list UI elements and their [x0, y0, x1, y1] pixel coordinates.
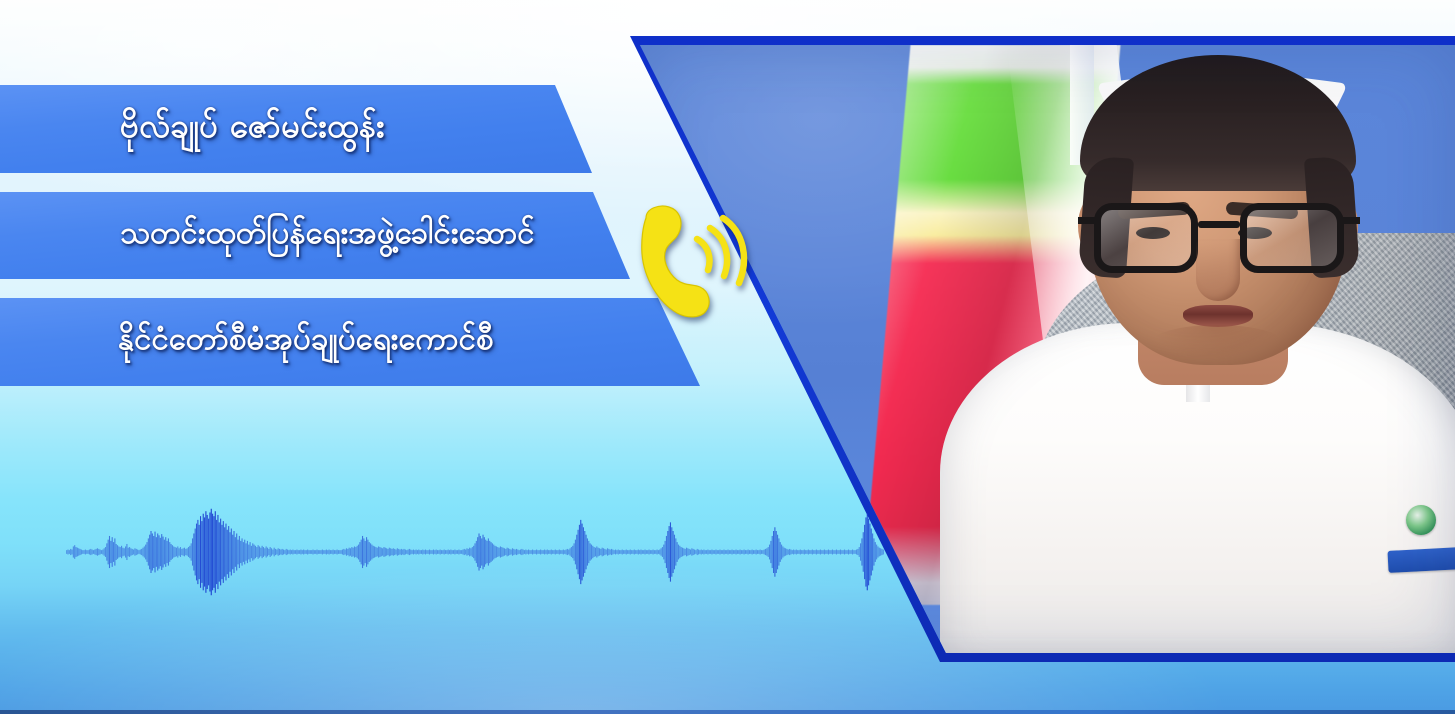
waveform-bar — [306, 550, 307, 554]
waveform-bar — [606, 550, 607, 555]
waveform-bar — [77, 548, 78, 557]
waveform-bar — [101, 550, 102, 554]
waveform-bar — [88, 550, 89, 554]
waveform-bar — [678, 545, 679, 560]
waveform-bar — [252, 543, 253, 560]
waveform-bar — [469, 548, 470, 557]
waveform-bar — [351, 547, 352, 557]
waveform-bar — [142, 548, 143, 557]
waveform-bar — [282, 549, 283, 555]
waveform-bar — [778, 538, 779, 565]
waveform-bar — [815, 550, 816, 554]
waveform-bar — [395, 550, 396, 555]
waveform-bar — [343, 549, 344, 555]
waveform-bar — [670, 522, 671, 581]
waveform-bar — [264, 548, 265, 555]
waveform-bar — [627, 550, 628, 554]
waveform-bar — [710, 550, 711, 554]
waveform-bar — [832, 550, 833, 555]
waveform-bar — [430, 550, 431, 554]
waveform-bar — [539, 550, 540, 554]
waveform-bar — [774, 527, 775, 576]
waveform-bar — [237, 540, 238, 565]
waveform-bar — [647, 550, 648, 554]
waveform-bar — [110, 541, 111, 563]
waveform-bar — [417, 550, 418, 554]
waveform-bar — [849, 550, 850, 554]
waveform-bar — [425, 550, 426, 555]
waveform-bar — [461, 550, 462, 554]
waveform-bar — [624, 550, 625, 554]
waveform-bar — [298, 550, 299, 554]
waveform-bar — [196, 524, 197, 581]
lower-third-line-1: ဗိုလ်ချုပ် ဇော်မင်းထွန်း — [0, 85, 600, 173]
waveform-bar — [93, 550, 94, 554]
waveform-bar — [519, 550, 520, 554]
bottom-edge-line — [0, 710, 1455, 714]
waveform-bar — [426, 550, 427, 554]
waveform-bar — [357, 546, 358, 558]
waveform-bar — [133, 550, 134, 555]
waveform-bar — [189, 546, 190, 558]
waveform-bar — [620, 550, 621, 554]
waveform-bar — [848, 550, 849, 555]
waveform-bar — [567, 549, 568, 555]
waveform-bar — [366, 537, 367, 567]
waveform-bar — [260, 548, 261, 557]
waveform-bar — [434, 550, 435, 554]
waveform-bar — [770, 541, 771, 563]
waveform-bar — [184, 548, 185, 557]
waveform-bar — [772, 536, 773, 568]
waveform-bar — [600, 549, 601, 555]
waveform-bar — [367, 540, 368, 565]
waveform-bar — [197, 520, 198, 584]
waveform-bar — [804, 550, 805, 555]
waveform-bar — [527, 550, 528, 554]
waveform-bar — [753, 550, 754, 554]
waveform-bar — [74, 545, 75, 559]
waveform-bar — [96, 549, 97, 555]
waveform-bar — [748, 550, 749, 555]
waveform-bar — [165, 537, 166, 567]
waveform-bar — [243, 542, 244, 562]
waveform-bar — [405, 550, 406, 555]
waveform-bar — [92, 550, 93, 555]
waveform-bar — [240, 541, 241, 563]
waveform-bar — [225, 524, 226, 581]
waveform-bar — [757, 550, 758, 554]
waveform-bar — [134, 548, 135, 555]
waveform-bar — [389, 548, 390, 557]
waveform-bar — [833, 550, 834, 554]
waveform-bar — [393, 548, 394, 555]
waveform-bar — [153, 536, 154, 568]
waveform-bar — [872, 533, 873, 570]
waveform-bar — [244, 540, 245, 565]
waveform-bar — [864, 525, 865, 579]
waveform-bar — [622, 550, 623, 555]
waveform-bar — [128, 548, 129, 557]
waveform-bar — [879, 548, 880, 557]
waveform-bar — [278, 548, 279, 555]
waveform-bar — [883, 550, 884, 555]
waveform-bar — [446, 550, 447, 554]
waveform-bar — [362, 536, 363, 568]
waveform-bar — [500, 546, 501, 557]
waveform-bar — [71, 550, 72, 555]
waveform-bar — [604, 549, 605, 555]
waveform-bar — [717, 550, 718, 554]
waveform-bar — [255, 546, 256, 558]
waveform-bar — [369, 542, 370, 562]
waveform-bar — [75, 547, 76, 557]
waveform-bar — [681, 547, 682, 557]
waveform-bar — [183, 548, 184, 555]
waveform-bar — [316, 550, 317, 555]
waveform-bar — [69, 550, 70, 554]
waveform-bar — [354, 546, 355, 557]
waveform-bar — [765, 549, 766, 555]
waveform-bar — [201, 521, 202, 583]
waveform-bar — [98, 549, 99, 555]
waveform-bar — [507, 548, 508, 557]
waveform-bar — [187, 548, 188, 555]
waveform-bar — [766, 548, 767, 555]
waveform-bar — [531, 550, 532, 554]
waveform-bar — [346, 548, 347, 555]
waveform-bar — [718, 550, 719, 554]
waveform-bar — [213, 516, 214, 588]
waveform-bar — [272, 550, 273, 555]
waveform-bar — [227, 530, 228, 574]
waveform-bar — [586, 535, 587, 570]
waveform-bar — [283, 550, 284, 555]
waveform-bar — [553, 550, 554, 554]
waveform-bar — [725, 550, 726, 554]
waveform-bar — [816, 550, 817, 555]
waveform-bar — [287, 550, 288, 555]
waveform-bar — [478, 533, 479, 570]
waveform-bar — [152, 533, 153, 570]
waveform-bar — [618, 550, 619, 555]
waveform-bar — [734, 550, 735, 554]
waveform-bar — [819, 550, 820, 554]
waveform-bar — [504, 548, 505, 555]
waveform-bar — [363, 538, 364, 565]
waveform-bar — [557, 550, 558, 554]
waveform-bar — [212, 514, 213, 591]
waveform-bar — [715, 550, 716, 555]
speaker-rank-name-label: ဗိုလ်ချုပ် ဇော်မင်းထွန်း — [120, 105, 385, 154]
waveform-bar — [168, 538, 169, 565]
waveform-bar — [761, 550, 762, 554]
waveform-bar — [630, 550, 631, 555]
waveform-bar — [635, 550, 636, 554]
waveform-bar — [266, 546, 267, 557]
waveform-bar — [776, 531, 777, 573]
waveform-bar — [565, 550, 566, 555]
waveform-bar — [370, 543, 371, 560]
waveform-bar — [371, 545, 372, 560]
waveform-bar — [122, 548, 123, 557]
waveform-bar — [397, 548, 398, 555]
waveform-bar — [657, 550, 658, 555]
waveform-bar — [291, 550, 292, 554]
waveform-bar — [121, 546, 122, 558]
waveform-bar — [535, 550, 536, 554]
waveform-bar — [786, 549, 787, 555]
waveform-bar — [102, 550, 103, 555]
waveform-bar — [113, 542, 114, 562]
waveform-bar — [359, 542, 360, 562]
waveform-bar — [117, 545, 118, 559]
waveform-bar — [82, 550, 83, 554]
waveform-bar — [497, 547, 498, 557]
waveform-bar — [296, 550, 297, 555]
waveform-bar — [322, 550, 323, 555]
waveform-bar — [219, 522, 220, 581]
waveform-bar — [314, 550, 315, 554]
waveform-bar — [777, 535, 778, 570]
waveform-bar — [350, 548, 351, 555]
waveform-bar — [491, 542, 492, 562]
waveform-bar — [810, 550, 811, 554]
waveform-bar — [442, 550, 443, 554]
waveform-bar — [323, 550, 324, 554]
speaker-role-label: သတင်းထုတ်ပြန်ရေးအဖွဲ့ခေါင်းဆောင် — [120, 213, 535, 259]
speaker-mouth — [1183, 305, 1253, 327]
waveform-bar — [623, 550, 624, 554]
waveform-bar — [540, 550, 541, 555]
waveform-bar — [654, 550, 655, 554]
waveform-bar — [666, 536, 667, 568]
waveform-bar — [130, 548, 131, 555]
waveform-bar — [608, 549, 609, 555]
waveform-bar — [454, 550, 455, 555]
waveform-bar — [136, 549, 137, 555]
waveform-bar — [661, 548, 662, 555]
waveform-bar — [342, 550, 343, 555]
waveform-bar — [875, 542, 876, 562]
waveform-bar — [437, 550, 438, 554]
waveform-bar — [570, 548, 571, 555]
waveform-bar — [559, 550, 560, 555]
waveform-bar — [741, 550, 742, 554]
waveform-bar — [644, 550, 645, 555]
waveform-bar — [532, 550, 533, 555]
waveform-bar — [466, 548, 467, 555]
waveform-bar — [295, 550, 296, 554]
waveform-bar — [758, 550, 759, 554]
waveform-bar — [536, 550, 537, 555]
waveform-bar — [492, 543, 493, 560]
waveform-bar — [827, 550, 828, 554]
waveform-bar — [503, 548, 504, 557]
waveform-bar — [571, 547, 572, 557]
waveform-bar — [797, 550, 798, 554]
waveform-bar — [616, 550, 617, 554]
chin-shading — [1152, 325, 1282, 359]
waveform-bar — [852, 550, 853, 555]
waveform-bar — [124, 548, 125, 555]
waveform-bar — [880, 548, 881, 555]
waveform-bar — [595, 548, 596, 557]
waveform-bar — [138, 550, 139, 554]
waveform-bar — [169, 542, 170, 562]
waveform-bar — [484, 537, 485, 567]
waveform-bar — [572, 546, 573, 558]
waveform-bar — [745, 550, 746, 554]
waveform-bar — [528, 550, 529, 555]
waveform-bar — [709, 550, 710, 554]
waveform-bar — [246, 543, 247, 560]
waveform-bar — [377, 548, 378, 557]
waveform-bar — [450, 550, 451, 555]
waveform-bar — [373, 546, 374, 558]
glasses-lens-right — [1240, 203, 1344, 273]
waveform-bar — [701, 550, 702, 555]
waveform-bar — [247, 541, 248, 563]
waveform-bar — [517, 550, 518, 555]
waveform-bar — [611, 549, 612, 555]
waveform-bar — [256, 547, 257, 557]
waveform-bar — [66, 550, 67, 554]
waveform-bar — [580, 520, 581, 584]
waveform-bar — [205, 511, 206, 593]
waveform-bar — [375, 547, 376, 557]
waveform-bar — [584, 531, 585, 573]
waveform-bar — [685, 549, 686, 555]
waveform-bar — [639, 550, 640, 554]
waveform-bar — [394, 549, 395, 555]
waveform-bar — [90, 549, 91, 555]
waveform-bar — [695, 550, 696, 554]
waveform-bar — [341, 550, 342, 554]
waveform-bar — [516, 549, 517, 555]
waveform-bar — [669, 526, 670, 578]
waveform-bar — [780, 542, 781, 562]
waveform-bar — [529, 550, 530, 554]
waveform-bar — [177, 546, 178, 557]
waveform-bar — [374, 546, 375, 557]
waveform-bar — [636, 550, 637, 554]
waveform-bar — [614, 550, 615, 554]
waveform-bar — [228, 526, 229, 578]
waveform-bar — [398, 549, 399, 555]
waveform-bar — [334, 550, 335, 554]
waveform-bar — [144, 546, 145, 557]
waveform-bar — [626, 550, 627, 555]
waveform-bar — [286, 549, 287, 555]
waveform-bar — [248, 545, 249, 560]
waveform-bar — [667, 531, 668, 573]
waveform-bar — [675, 538, 676, 565]
glasses-bridge — [1198, 221, 1240, 228]
waveform-bar — [149, 535, 150, 570]
waveform-bar — [267, 548, 268, 557]
waveform-bar — [109, 536, 110, 568]
waveform-bar — [568, 550, 569, 555]
waveform-bar — [867, 514, 868, 591]
waveform-bar — [378, 546, 379, 557]
waveform-bar — [658, 550, 659, 554]
waveform-bar — [583, 527, 584, 576]
waveform-bar — [203, 514, 204, 591]
waveform-bar — [607, 548, 608, 555]
waveform-bar — [501, 547, 502, 557]
waveform-bar — [120, 547, 121, 557]
waveform-bar — [429, 550, 430, 555]
waveform-bar — [270, 547, 271, 557]
waveform-bar — [682, 548, 683, 557]
waveform-bar — [159, 535, 160, 568]
waveform-bar — [355, 547, 356, 557]
waveform-bar — [829, 550, 830, 554]
waveform-bar — [448, 550, 449, 555]
waveform-bar — [220, 519, 221, 586]
waveform-bar — [881, 549, 882, 555]
waveform-bar — [335, 550, 336, 554]
waveform-bar — [472, 547, 473, 557]
waveform-bar — [163, 537, 164, 568]
waveform-bar — [114, 538, 115, 565]
waveform-bar — [533, 550, 534, 554]
waveform-bar — [740, 550, 741, 555]
waveform-bar — [560, 550, 561, 554]
waveform-bar — [473, 546, 474, 558]
waveform-bar — [329, 550, 330, 555]
waveform-bar — [188, 547, 189, 557]
waveform-bar — [67, 550, 68, 555]
waveform-bar — [232, 535, 233, 570]
waveform-bar — [868, 519, 869, 586]
waveform-bar — [671, 527, 672, 576]
waveform-bar — [523, 550, 524, 555]
waveform-bar — [148, 538, 149, 565]
waveform-bar — [274, 548, 275, 557]
waveform-bar — [855, 550, 856, 554]
waveform-bar — [333, 550, 334, 555]
waveform-bar — [145, 545, 146, 560]
waveform-bar — [809, 550, 810, 554]
waveform-bar — [853, 550, 854, 554]
waveform-bar — [610, 550, 611, 555]
waveform-bar — [239, 536, 240, 568]
audio-waveform — [66, 506, 884, 598]
lower-third-line-3: နိုင်ငံတော်စီမံအုပ်ချုပ်ရေးကောင်စီ — [0, 298, 710, 386]
waveform-bar — [588, 541, 589, 563]
waveform-bar — [326, 550, 327, 555]
waveform-bar — [515, 550, 516, 555]
waveform-bar — [831, 550, 832, 554]
waveform-bar — [390, 548, 391, 555]
waveform-bar — [697, 549, 698, 555]
waveform-bar — [851, 550, 852, 554]
waveform-bar — [477, 537, 478, 567]
waveform-bar — [320, 550, 321, 554]
waveform-bar — [653, 550, 654, 555]
waveform-bar — [440, 550, 441, 555]
waveform-bar — [689, 549, 690, 555]
waveform-bar — [655, 550, 656, 554]
waveform-bar — [70, 549, 71, 555]
waveform-bar — [698, 550, 699, 555]
waveform-bar — [634, 550, 635, 555]
waveform-bar — [200, 516, 201, 588]
waveform-bar — [564, 550, 565, 554]
waveform-bar — [659, 550, 660, 555]
